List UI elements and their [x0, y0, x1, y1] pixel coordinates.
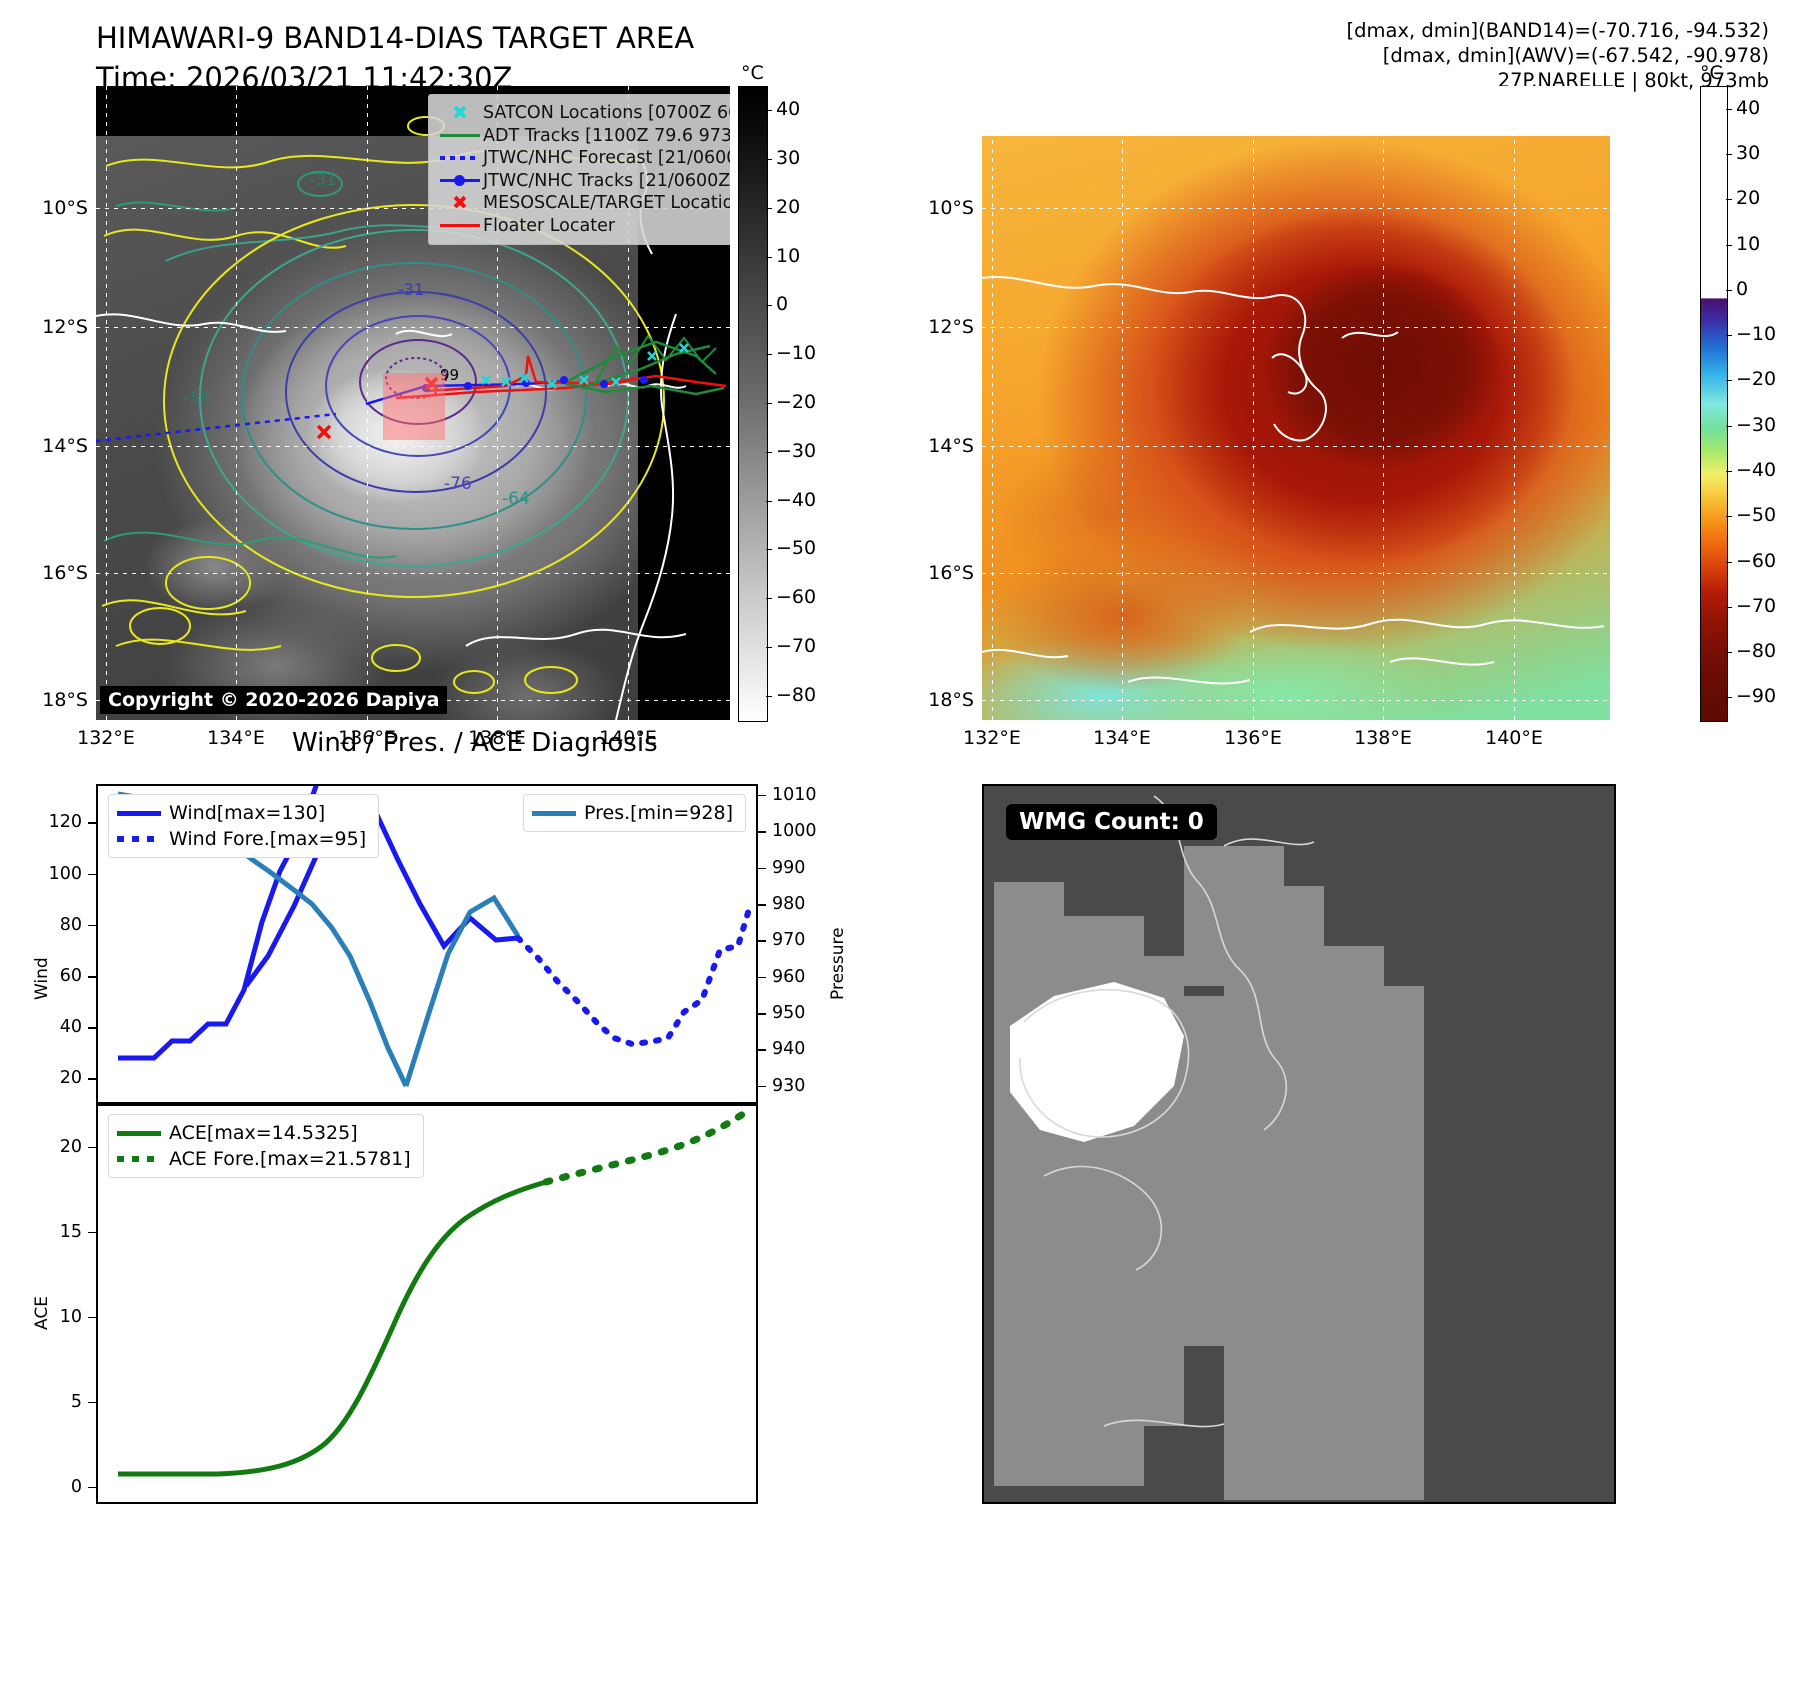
colorbar-tickmark [766, 647, 772, 648]
legend-label: JTWC/NHC Tracks [21/0600Z] [483, 170, 730, 193]
grayscale-colorbar-title: °C [741, 62, 764, 84]
awv-graticule-lat-10s [982, 208, 1616, 209]
colorbar-tickmark [766, 257, 772, 258]
colorbar-tick-label: −40 [776, 489, 816, 511]
axis-tick-label: 100 [20, 864, 82, 884]
legend-label: Floater Locater [483, 215, 615, 238]
adt-line-icon [437, 134, 483, 137]
ir-lat-tick-0: 10°S [18, 197, 88, 219]
colorbar-tickmark [766, 501, 772, 502]
ir-lat-tick-4: 18°S [18, 689, 88, 711]
colorbar-tickmark [766, 305, 772, 306]
axis-tickmark [88, 1027, 96, 1029]
axis-tick-label: 980 [772, 894, 834, 914]
colorbar-tickmark [1726, 516, 1732, 517]
awv-lat-tick-2: 14°S [904, 435, 974, 457]
awv-graticule-lon-140e [1514, 86, 1515, 720]
colorbar-tickmark [1726, 290, 1732, 291]
legend-item-jtwc-forecast[interactable]: JTWC/NHC Forecast [21/0600Z] [437, 147, 730, 170]
pressure-line-b [406, 898, 518, 1086]
colorbar-tick-label: −30 [776, 440, 816, 462]
colorbar-tick-label: −60 [776, 586, 816, 608]
colorbar-tickmark [766, 452, 772, 453]
wind-forecast-dots-icon [117, 836, 169, 842]
colorbar-tick-label: 0 [1736, 278, 1748, 300]
colorbar-tick-label: −90 [1736, 685, 1776, 707]
dmax-band14: [dmax, dmin](BAND14)=(-70.716, -94.532) [1347, 18, 1769, 43]
legend-item-mesoscale[interactable]: ✖ MESOSCALE/TARGET Location [437, 192, 730, 215]
wind-pressure-chart[interactable]: Wind[max=130] Wind Fore.[max=95] Pres.[m… [96, 784, 758, 1104]
axis-tick-label: 40 [20, 1017, 82, 1037]
wind-line-icon [117, 811, 169, 816]
colorbar-tickmark [1726, 199, 1732, 200]
ir-satellite-panel[interactable]: -31 -54 -76 -64 -31 99 [96, 86, 730, 720]
axis-tickmark [758, 795, 766, 797]
axis-tickmark [88, 1078, 96, 1080]
colorbar-tick-label: 10 [1736, 233, 1760, 255]
awv-lon-tick-4: 140°E [1485, 727, 1543, 749]
legend-label: Wind Fore.[max=95] [169, 826, 366, 852]
copyright-badge: Copyright © 2020-2026 Dapiya [100, 686, 447, 714]
legend-item-ace[interactable]: ACE[max=14.5325] [117, 1120, 411, 1146]
colorbar-tick-label: −20 [1736, 368, 1776, 390]
awv-lat-tick-0: 10°S [904, 197, 974, 219]
axis-tickmark [758, 1049, 766, 1051]
ace-line-icon [117, 1131, 169, 1136]
colorbar-tick-label: −30 [1736, 414, 1776, 436]
axis-tick-label: 20 [26, 1137, 82, 1157]
axis-tickmark [88, 925, 96, 927]
jtwc-track-linedot-icon [437, 179, 483, 182]
axis-tick-label: 80 [20, 915, 82, 935]
title-line: HIMAWARI-9 BAND14-DIAS TARGET AREA [96, 18, 694, 58]
ir-lon-tick-0: 132°E [77, 727, 135, 749]
colorbar-tick-label: 30 [1736, 142, 1760, 164]
axis-tickmark [88, 822, 96, 824]
colorbar-tick-label: −80 [776, 684, 816, 706]
legend-label: ADT Tracks [1100Z 79.6 973.7] [483, 125, 730, 148]
legend-label: ACE Fore.[max=21.5781] [169, 1146, 411, 1172]
mesoscale-x-icon: ✖ [437, 194, 483, 213]
axis-tickmark [758, 1013, 766, 1015]
axis-tick-label: 0 [26, 1477, 82, 1497]
colorbar-tick-label: −70 [1736, 595, 1776, 617]
axis-tickmark [758, 1086, 766, 1088]
colorbar-tickmark [1726, 154, 1732, 155]
axis-tickmark [88, 1232, 96, 1234]
axis-tick-label: 990 [772, 858, 834, 878]
legend-item-pressure[interactable]: Pres.[min=928] [532, 800, 733, 826]
colorbar-tick-label: −70 [776, 635, 816, 657]
awv-coastline [982, 86, 1616, 720]
colorbar-tickmark [766, 598, 772, 599]
axis-tick-label: 15 [26, 1222, 82, 1242]
awv-graticule-lon-138e [1383, 86, 1384, 720]
axis-tick-label: 970 [772, 930, 834, 950]
axis-tick-label: 960 [772, 967, 834, 987]
pressure-legend[interactable]: Pres.[min=928] [523, 794, 746, 832]
wmg-count-badge: WMG Count: 0 [1006, 804, 1217, 840]
colorbar-tick-label: 30 [776, 147, 800, 169]
legend-label: MESOSCALE/TARGET Location [483, 192, 730, 215]
colorbar-tickmark [766, 696, 772, 697]
axis-tick-label: 1010 [772, 785, 834, 805]
awv-graticule-lat-16s [982, 573, 1616, 574]
legend-label: Wind[max=130] [169, 800, 325, 826]
ir-lon-tick-1: 134°E [207, 727, 265, 749]
colorbar-tick-label: 40 [776, 98, 800, 120]
colorbar-tickmark [1726, 471, 1732, 472]
colorbar-tickmark [1726, 109, 1732, 110]
pressure-line-icon [532, 811, 584, 816]
awv-graticule-lat-18s [982, 700, 1616, 701]
floater-line-icon [437, 224, 483, 227]
legend-item-wind[interactable]: Wind[max=130] [117, 800, 366, 826]
colorbar-tick-label: −60 [1736, 550, 1776, 572]
colorbar-tickmark [1726, 652, 1732, 653]
grayscale-colorbar [738, 86, 768, 722]
colorbar-tickmark [1726, 562, 1732, 563]
legend-item-jtwc-tracks[interactable]: JTWC/NHC Tracks [21/0600Z] [437, 170, 730, 193]
awv-satellite-panel[interactable] [982, 86, 1616, 720]
ir-lat-tick-1: 12°S [18, 316, 88, 338]
ace-forecast-line [546, 1112, 746, 1182]
colorbar-tick-label: 10 [776, 245, 800, 267]
colorbar-tick-label: −20 [776, 391, 816, 413]
axis-tick-label: 120 [20, 812, 82, 832]
colorbar-tick-label: 20 [776, 196, 800, 218]
awv-graticule-lat-12s [982, 327, 1616, 328]
colorbar-tickmark [1726, 426, 1732, 427]
axis-tickmark [88, 976, 96, 978]
colorbar-tickmark [1726, 697, 1732, 698]
awv-lon-tick-1: 134°E [1093, 727, 1151, 749]
awv-graticule-lon-134e [1122, 86, 1123, 720]
legend-item-floater[interactable]: Floater Locater [437, 215, 730, 238]
awv-lon-tick-0: 132°E [963, 727, 1021, 749]
axis-tickmark [88, 1147, 96, 1149]
colorbar-tick-label: −50 [776, 537, 816, 559]
axis-tick-label: 940 [772, 1039, 834, 1059]
axis-tickmark [758, 868, 766, 870]
satcon-x-icon: ✖ [437, 104, 483, 123]
ir-lat-tick-2: 14°S [18, 435, 88, 457]
ir-legend[interactable]: ✖ SATCON Locations [0700Z 60 982] ADT Tr… [428, 94, 730, 245]
ace-observed-line [118, 1182, 546, 1474]
ir-enhancement-colorbar [1700, 86, 1728, 722]
colorbar-tickmark [766, 159, 772, 160]
colorbar-tick-label: −10 [776, 342, 816, 364]
colorbar-tick-label: 40 [1736, 97, 1760, 119]
axis-tick-label: 10 [26, 1307, 82, 1327]
axis-tick-label: 930 [772, 1076, 834, 1096]
legend-label: ACE[max=14.5325] [169, 1120, 358, 1146]
colorbar-tickmark [766, 549, 772, 550]
colorbar-tickmark [766, 208, 772, 209]
awv-lat-tick-1: 12°S [904, 316, 974, 338]
colorbar-tick-label: 0 [776, 293, 788, 315]
colorbar-tickmark [766, 354, 772, 355]
wind-pres-ace-title: Wind / Pres. / ACE Diagnosis [292, 728, 658, 758]
colorbar-tickmark [1726, 245, 1732, 246]
legend-item-adt[interactable]: ADT Tracks [1100Z 79.6 973.7] [437, 125, 730, 148]
ace-chart[interactable]: ACE[max=14.5325] ACE Fore.[max=21.5781] [96, 1104, 758, 1504]
axis-tickmark [758, 904, 766, 906]
axis-tickmark [88, 874, 96, 876]
awv-lat-tick-3: 16°S [904, 562, 974, 584]
ace-forecast-dots-icon [117, 1156, 169, 1162]
axis-tickmark [88, 1402, 96, 1404]
axis-tick-label: 950 [772, 1003, 834, 1023]
axis-tick-label: 1000 [772, 821, 834, 841]
legend-item-satcon[interactable]: ✖ SATCON Locations [0700Z 60 982] [437, 102, 730, 125]
colorbar-tick-label: −80 [1736, 640, 1776, 662]
colorbar-tickmark [1726, 607, 1732, 608]
axis-tickmark [758, 977, 766, 979]
awv-lon-tick-3: 138°E [1354, 727, 1412, 749]
awv-lon-tick-2: 136°E [1224, 727, 1282, 749]
colorbar-tickmark [1726, 335, 1732, 336]
colorbar-tick-label: −50 [1736, 504, 1776, 526]
axis-tick-label: 5 [26, 1392, 82, 1412]
axis-tickmark [758, 940, 766, 942]
wind-legend[interactable]: Wind[max=130] Wind Fore.[max=95] [108, 794, 379, 858]
axis-tickmark [758, 831, 766, 833]
colorbar-tick-label: −40 [1736, 459, 1776, 481]
wind-forecast-line [518, 906, 750, 1044]
jtwc-forecast-dots-icon [437, 156, 483, 160]
axis-tick-label: 20 [20, 1068, 82, 1088]
jtwc-forecast-track-line [96, 414, 336, 441]
axis-tick-label: 60 [20, 966, 82, 986]
colorbar-tickmark [766, 110, 772, 111]
ir-colorbar-title: °C [1700, 62, 1723, 84]
mesoscale-target-box[interactable] [383, 373, 445, 440]
wmg-mask-imagery [984, 786, 1614, 1502]
awv-graticule-lon-136e [1253, 86, 1254, 720]
awv-lat-tick-4: 18°S [904, 689, 974, 711]
awv-graticule-lon-132e [992, 86, 993, 720]
legend-label: SATCON Locations [0700Z 60 982] [483, 102, 730, 125]
axis-tickmark [88, 1317, 96, 1319]
colorbar-tickmark [766, 403, 772, 404]
wmg-panel[interactable]: WMG Count: 0 [982, 784, 1616, 1504]
ace-legend[interactable]: ACE[max=14.5325] ACE Fore.[max=21.5781] [108, 1114, 424, 1178]
legend-item-ace-forecast[interactable]: ACE Fore.[max=21.5781] [117, 1146, 411, 1172]
colorbar-tick-label: −10 [1736, 323, 1776, 345]
colorbar-tickmark [1726, 380, 1732, 381]
legend-item-wind-forecast[interactable]: Wind Fore.[max=95] [117, 826, 366, 852]
axis-tickmark [88, 1487, 96, 1489]
legend-label: JTWC/NHC Forecast [21/0600Z] [483, 147, 730, 170]
ir-lat-tick-3: 16°S [18, 562, 88, 584]
colorbar-tick-label: 20 [1736, 187, 1760, 209]
legend-label: Pres.[min=928] [584, 800, 733, 826]
awv-graticule-lat-14s [982, 446, 1616, 447]
